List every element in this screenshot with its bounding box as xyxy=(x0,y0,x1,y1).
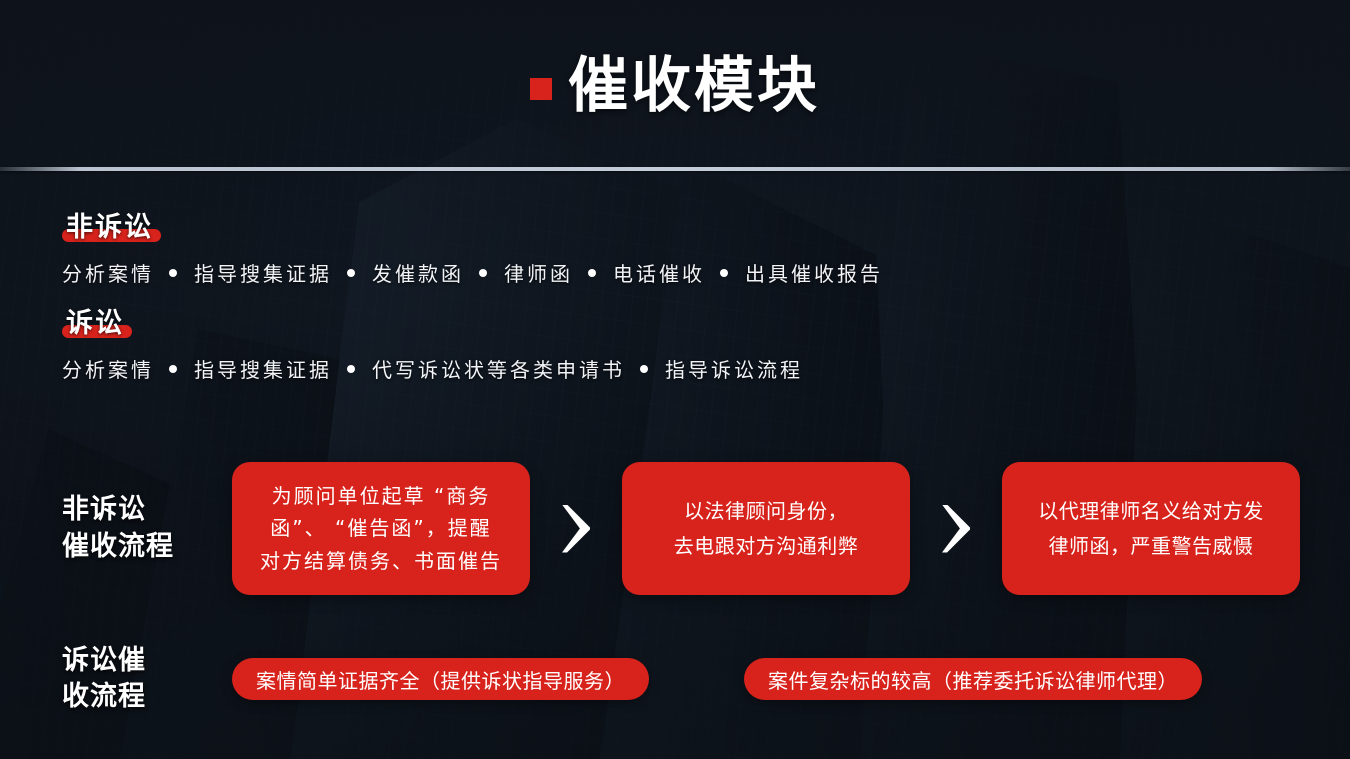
list-item: 指导诉讼流程 xyxy=(665,354,803,383)
flow-card-2-text: 以法律顾问身份， 去电跟对方沟通利弊 xyxy=(674,494,859,564)
bullet-dot-icon xyxy=(588,269,596,277)
flow-label-non-litigation: 非诉讼 催收流程 xyxy=(62,492,232,565)
litigation-pill-1[interactable]: 案情简单证据齐全（提供诉状指导服务） xyxy=(232,658,649,700)
bullet-dot-icon xyxy=(169,365,177,373)
list-item: 指导搜集证据 xyxy=(194,258,332,287)
list-items-litigation: 分析案情 指导搜集证据 代写诉讼状等各类申请书 指导诉讼流程 xyxy=(62,354,1312,383)
non-litigation-flow-row: 非诉讼 催收流程 为顾问单位起草 “商务 函”、 “催告函”，提醒 对方结算债务… xyxy=(62,462,1322,595)
tag-label: 非诉讼 xyxy=(66,212,153,243)
bullet-dot-icon xyxy=(169,269,177,277)
flow-card-1-text: 为顾问单位起草 “商务 函”、 “催告函”，提醒 对方结算债务、书面催告 xyxy=(260,480,502,577)
flow-label-line1: 诉讼催 xyxy=(62,643,232,679)
flow-card-2[interactable]: 以法律顾问身份， 去电跟对方沟通利弊 xyxy=(622,462,910,595)
list-item: 出具催收报告 xyxy=(745,258,883,287)
flow-card-3[interactable]: 以代理律师名义给对方发 律师函，严重警告威慑 xyxy=(1002,462,1300,595)
list-block-litigation: 诉讼 分析案情 指导搜集证据 代写诉讼状等各类申请书 指导诉讼流程 xyxy=(62,301,1312,383)
flow-label-line2: 收流程 xyxy=(62,679,232,715)
red-square-bullet-icon xyxy=(530,78,552,100)
header-divider xyxy=(0,167,1350,171)
list-item: 分析案情 xyxy=(62,354,154,383)
flow-label-line1: 非诉讼 xyxy=(62,492,232,528)
flow-section: 非诉讼 催收流程 为顾问单位起草 “商务 函”、 “催告函”，提醒 对方结算债务… xyxy=(62,462,1322,716)
list-item: 律师函 xyxy=(504,258,573,287)
flow-card-3-text: 以代理律师名义给对方发 律师函，严重警告威慑 xyxy=(1038,494,1264,564)
bullet-dot-icon xyxy=(640,365,648,373)
slide-header: 催收模块 xyxy=(0,0,1350,168)
section-tag-litigation: 诉讼 xyxy=(62,301,132,340)
tag-label: 诉讼 xyxy=(66,308,124,339)
list-item: 电话催收 xyxy=(613,258,705,287)
flow-card-1[interactable]: 为顾问单位起草 “商务 函”、 “催告函”，提醒 对方结算债务、书面催告 xyxy=(232,462,530,595)
list-item: 发催款函 xyxy=(372,258,464,287)
bullet-dot-icon xyxy=(720,269,728,277)
chevron-right-icon xyxy=(942,505,970,553)
litigation-flow-row: 诉讼催 收流程 案情简单证据齐全（提供诉状指导服务） 案件复杂标的较高（推荐委托… xyxy=(62,643,1322,716)
litigation-pill-2[interactable]: 案件复杂标的较高（推荐委托诉讼律师代理） xyxy=(744,658,1202,700)
flow-label-line2: 催收流程 xyxy=(62,529,232,565)
flow-label-litigation: 诉讼催 收流程 xyxy=(62,643,232,716)
flow-arrow-2 xyxy=(910,505,1002,553)
flow-arrow-1 xyxy=(530,505,622,553)
bullet-dot-icon xyxy=(347,365,355,373)
list-items-non-litigation: 分析案情 指导搜集证据 发催款函 律师函 电话催收 出具催收报告 xyxy=(62,258,1312,287)
list-item: 指导搜集证据 xyxy=(194,354,332,383)
list-item: 分析案情 xyxy=(62,258,154,287)
bullet-dot-icon xyxy=(479,269,487,277)
list-block-non-litigation: 非诉讼 分析案情 指导搜集证据 发催款函 律师函 电话催收 出具催收报告 xyxy=(62,205,1312,287)
title-wrap: 催收模块 xyxy=(530,37,820,124)
service-lists: 非诉讼 分析案情 指导搜集证据 发催款函 律师函 电话催收 出具催收报告 诉讼 xyxy=(62,205,1312,397)
bullet-dot-icon xyxy=(347,269,355,277)
slide-canvas: 催收模块 非诉讼 分析案情 指导搜集证据 发催款函 律师函 电话催收 出具催收报… xyxy=(0,0,1350,759)
page-title: 催收模块 xyxy=(568,37,820,124)
chevron-right-icon xyxy=(562,505,590,553)
list-item: 代写诉讼状等各类申请书 xyxy=(372,354,625,383)
section-tag-non-litigation: 非诉讼 xyxy=(62,205,161,244)
